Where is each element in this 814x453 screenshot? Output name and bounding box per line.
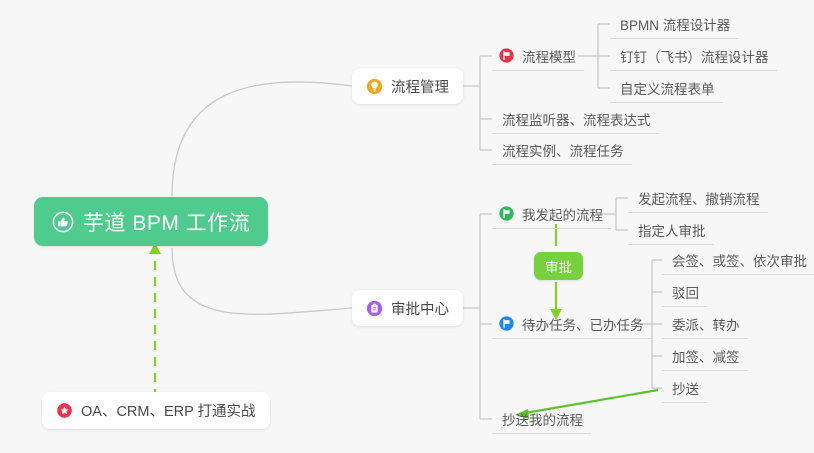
node-custom-form[interactable]: 自定义流程表单 [610,73,723,103]
star-icon [56,402,73,419]
node-bpmn-designer[interactable]: BPMN 流程设计器 [610,9,738,39]
node-todo-done-tasks[interactable]: 待办任务、已办任务 [492,309,652,339]
node-add-remove-sign[interactable]: 加签、减签 [662,341,748,371]
flag-icon [498,47,515,64]
node-process-instance[interactable]: 流程实例、流程任务 [492,135,632,165]
node-reject[interactable]: 驳回 [662,277,707,307]
badge-label: 审批 [545,256,572,276]
node-label: 会签、或签、依次审批 [672,250,807,270]
node-dingtalk-designer[interactable]: 钉钉（飞书）流程设计器 [610,41,777,71]
thumbs-up-icon [52,211,74,233]
flag-icon [498,205,515,222]
edge-root-to-process-management [172,82,352,196]
node-my-started-process[interactable]: 我发起的流程 [492,199,611,229]
node-label: 钉钉（飞书）流程设计器 [620,46,769,66]
node-label: 指定人审批 [638,220,706,240]
node-label: 加签、减签 [672,346,740,366]
node-label: 抄送 [672,378,699,398]
branch-approval-center[interactable]: 审批中心 [352,290,463,326]
node-cc-my-process[interactable]: 抄送我的流程 [492,404,591,434]
node-label: 发起流程、撤销流程 [638,188,760,208]
node-label: 抄送我的流程 [502,409,583,429]
node-label: 驳回 [672,282,699,302]
node-start-cancel-process[interactable]: 发起流程、撤销流程 [628,183,768,213]
clipboard-icon [366,300,383,317]
branch-label: 流程管理 [391,76,449,97]
node-assignee-approval[interactable]: 指定人审批 [628,215,714,245]
node-label: 我发起的流程 [522,204,603,224]
integration-note-label: OA、CRM、ERP 打通实战 [81,400,256,421]
node-delegate-transfer[interactable]: 委派、转办 [662,309,748,339]
node-label: 待办任务、已办任务 [522,314,644,334]
root-node[interactable]: 芋道 BPM 工作流 [34,197,268,246]
node-countersign[interactable]: 会签、或签、依次审批 [662,245,814,275]
edge-root-to-approval-center [172,248,352,314]
lightbulb-icon [366,78,383,95]
edge-integration-note-to-root [149,243,161,398]
root-label: 芋道 BPM 工作流 [83,207,250,237]
flag-icon [498,315,515,332]
node-label: 自定义流程表单 [620,78,715,98]
node-label: BPMN 流程设计器 [620,14,730,34]
integration-note[interactable]: OA、CRM、ERP 打通实战 [42,392,270,429]
approval-badge[interactable]: 审批 [534,252,583,280]
node-label: 委派、转办 [672,314,740,334]
node-carbon-copy[interactable]: 抄送 [662,373,707,403]
node-process-model[interactable]: 流程模型 [492,41,584,71]
node-process-listener[interactable]: 流程监听器、流程表达式 [492,104,659,134]
node-label: 流程模型 [522,46,576,66]
node-label: 流程实例、流程任务 [502,140,624,160]
node-label: 流程监听器、流程表达式 [502,109,651,129]
branch-label: 审批中心 [391,298,449,319]
mindmap-canvas: 芋道 BPM 工作流 流程管理 审批中心 [0,0,814,453]
branch-process-management[interactable]: 流程管理 [352,68,463,104]
